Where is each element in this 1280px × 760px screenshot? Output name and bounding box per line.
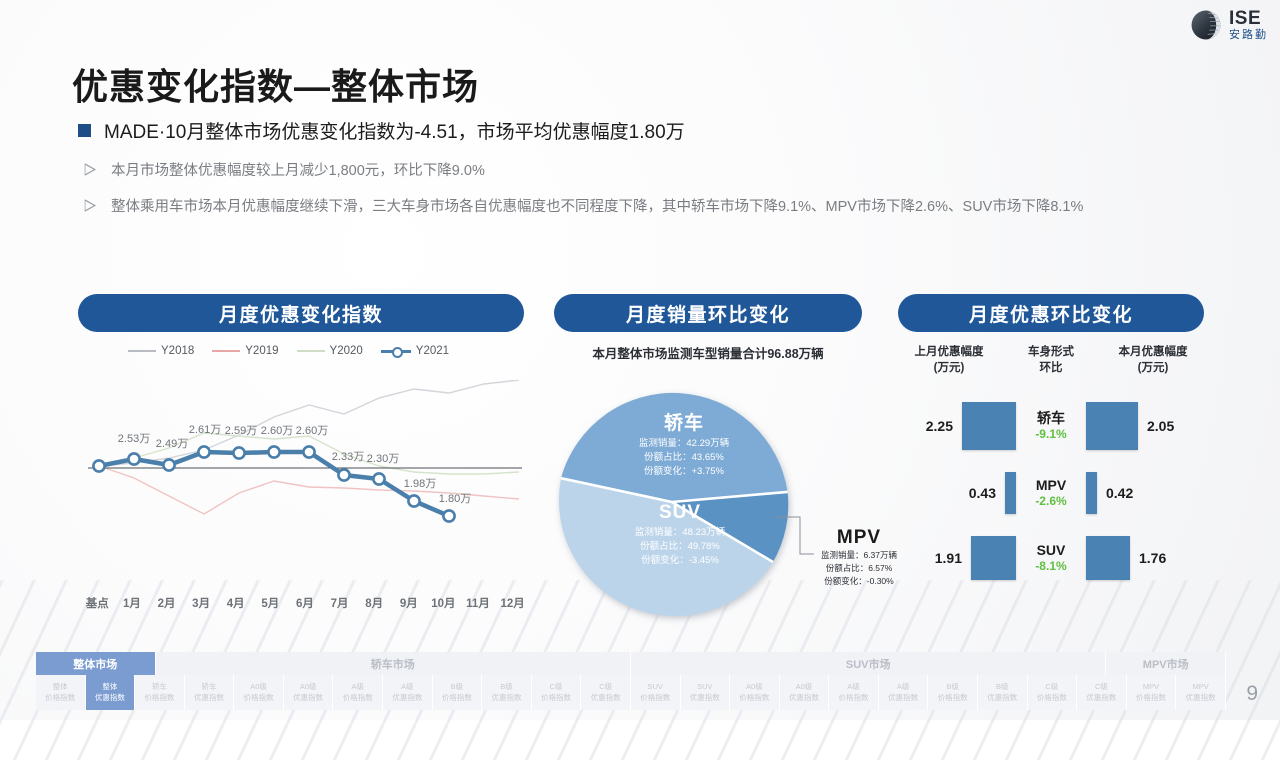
bar-row-mpv: 0.43 MPV -2.6% 0.42 <box>898 470 1204 516</box>
nav-tab-line1: B级 <box>451 682 464 692</box>
nav-tab-11[interactable]: C级优惠指数 <box>581 675 631 710</box>
nav-tab-9[interactable]: B级优惠指数 <box>482 675 532 710</box>
bar-col-cur-header: 本月优惠幅度 (万元) <box>1102 345 1204 376</box>
data-label: 2.53万 <box>118 433 150 445</box>
nav-tab-8[interactable]: B级价格指数 <box>433 675 483 710</box>
nav-group-sedan[interactable]: 轿车市场 <box>156 652 631 675</box>
legend-item-y2021: Y2021 <box>381 345 449 357</box>
nav-group-overall[interactable]: 整体市场 <box>36 652 156 675</box>
nav-tab-line2: 价格指数 <box>144 693 174 703</box>
bar-row-suv: 1.91 SUV -8.1% 1.76 <box>898 534 1204 582</box>
nav-tab-line2: 优惠指数 <box>293 693 323 703</box>
nav-tab-21[interactable]: C级优惠指数 <box>1077 675 1127 710</box>
panel-title-bar-chart: 月度优惠环比变化 <box>898 294 1204 332</box>
bar-right-suv: 1.76 <box>1086 536 1204 580</box>
nav-tab-7[interactable]: A级优惠指数 <box>383 675 433 710</box>
series-y2021-markers <box>93 446 454 521</box>
nav-tab-line1: C级 <box>599 682 612 692</box>
nav-tab-line1: C级 <box>550 682 563 692</box>
nav-tab-16[interactable]: A级价格指数 <box>829 675 879 710</box>
data-label: 2.60万 <box>261 425 293 437</box>
nav-tab-22[interactable]: MPV价格指数 <box>1127 675 1177 710</box>
nav-tab-line1: B级 <box>996 682 1009 692</box>
nav-tab-line2: 价格指数 <box>244 693 274 703</box>
nav-tab-line2: 优惠指数 <box>392 693 422 703</box>
bar-change-car: -9.1% <box>1016 427 1086 443</box>
nav-tab-12[interactable]: SUV价格指数 <box>631 675 681 710</box>
x-tick: 7月 <box>322 595 357 611</box>
nav-tab-23[interactable]: MPV优惠指数 <box>1176 675 1226 710</box>
bar-col-prev-line2: (万元) <box>898 361 1000 377</box>
bar-col-mid-line2: 环比 <box>1000 361 1102 377</box>
bar-left-mpv: 0.43 <box>898 472 1016 514</box>
bar-cur-value-mpv: 0.42 <box>1097 485 1146 501</box>
nav-tab-line2: 优惠指数 <box>491 693 521 703</box>
x-tick: 3月 <box>184 595 219 611</box>
bar-mid-car: 轿车 -9.1% <box>1016 410 1086 442</box>
slide-root: ISE 安路勤 优惠变化指数—整体市场 MADE·10月整体市场优惠变化指数为-… <box>0 0 1280 720</box>
nav-tab-1[interactable]: 整体优惠指数 <box>86 675 136 710</box>
nav-tab-line1: SUV <box>697 682 712 692</box>
nav-tab-line2: 优惠指数 <box>888 693 918 703</box>
legend-label: Y2020 <box>330 345 363 357</box>
x-tick: 2月 <box>149 595 184 611</box>
data-label: 2.30万 <box>367 453 399 465</box>
bar-mid-mpv: MPV -2.6% <box>1016 477 1086 509</box>
nav-tab-line1: A级 <box>352 682 365 692</box>
legend-label: Y2019 <box>245 345 278 357</box>
nav-group-mpv[interactable]: MPV市场 <box>1106 652 1226 675</box>
bar-label-suv: SUV <box>1016 542 1086 559</box>
x-tick: 6月 <box>288 595 323 611</box>
nav-tab-line2: 优惠指数 <box>1086 693 1116 703</box>
bar-cur-value-suv: 1.76 <box>1130 550 1179 566</box>
bar-col-cur-line2: (万元) <box>1102 361 1204 377</box>
bar-left-suv: 1.91 <box>898 536 1016 580</box>
nav-tab-line2: 价格指数 <box>640 693 670 703</box>
monthly-sales-pie-chart: 轿车 监测销量：42.29万辆 份额占比：43.65% 份额变化：+3.75% … <box>552 382 882 637</box>
nav-tab-line2: 价格指数 <box>343 693 373 703</box>
panel-title-line-chart: 月度优惠变化指数 <box>78 294 524 332</box>
nav-tab-line1: A0级 <box>250 682 267 692</box>
nav-tab-line2: 价格指数 <box>1136 693 1166 703</box>
x-tick: 11月 <box>461 595 496 611</box>
bar-prev-rect-mpv <box>1005 472 1016 514</box>
nav-group-suv[interactable]: SUV市场 <box>631 652 1106 675</box>
bar-change-suv: -8.1% <box>1016 559 1086 575</box>
nav-tab-line1: 轿车 <box>202 682 217 692</box>
nav-tab-line1: A级 <box>847 682 860 692</box>
nav-tab-19[interactable]: B级优惠指数 <box>978 675 1028 710</box>
legend-swatch <box>297 350 325 352</box>
line-chart-x-axis: 基点 1月 2月 3月 4月 5月 6月 7月 8月 9月 10月 11月 12… <box>80 595 530 611</box>
nav-tab-line2: 优惠指数 <box>987 693 1017 703</box>
nav-tab-line2: 价格指数 <box>442 693 472 703</box>
bar-col-mid-header: 车身形式 环比 <box>1000 345 1102 376</box>
sub-bullet-2: 整体乘用车市场本月优惠幅度继续下滑，三大车身市场各自优惠幅度也不同程度下降，其中… <box>84 196 1083 220</box>
nav-tab-line1: A0级 <box>796 682 813 692</box>
nav-tab-line1: 整体 <box>102 682 117 692</box>
data-label: 2.49万 <box>156 438 188 450</box>
x-tick: 9月 <box>391 595 426 611</box>
nav-tab-10[interactable]: C级价格指数 <box>532 675 582 710</box>
brand-logo: ISE 安路勤 <box>1189 8 1268 42</box>
pie-slices <box>559 393 788 616</box>
bar-prev-value-mpv: 0.43 <box>956 485 1005 501</box>
monthly-discount-index-line-chart: 2.53万 2.49万 2.61万 2.59万 2.60万 2.60万 2.33… <box>80 380 530 580</box>
legend-item-y2020: Y2020 <box>297 345 363 357</box>
data-label: 2.61万 <box>189 424 221 436</box>
x-tick: 10月 <box>426 595 461 611</box>
square-bullet-icon <box>78 124 91 137</box>
bar-cur-rect-mpv <box>1086 472 1097 514</box>
bar-chart-header: 上月优惠幅度 (万元) 车身形式 环比 本月优惠幅度 (万元) <box>898 345 1204 376</box>
nav-tab-line2: 优惠指数 <box>690 693 720 703</box>
bar-cur-rect-suv <box>1086 536 1130 580</box>
nav-tab-20[interactable]: C级价格指数 <box>1028 675 1078 710</box>
legend-swatch <box>128 350 156 352</box>
data-label: 1.98万 <box>404 478 436 490</box>
nav-tab-line1: 轿车 <box>152 682 167 692</box>
nav-tab-line2: 价格指数 <box>839 693 869 703</box>
x-tick: 4月 <box>218 595 253 611</box>
nav-tab-line1: A级 <box>401 682 414 692</box>
nav-tab-line1: A级 <box>897 682 910 692</box>
nav-tab-line2: 优惠指数 <box>194 693 224 703</box>
nav-tab-4[interactable]: A0级价格指数 <box>234 675 284 710</box>
bar-mid-suv: SUV -8.1% <box>1016 542 1086 574</box>
bar-row-car: 2.25 轿车 -9.1% 2.05 <box>898 400 1204 452</box>
bar-cur-value-car: 2.05 <box>1138 418 1187 434</box>
discount-change-bar-chart: 2.25 轿车 -9.1% 2.05 0.43 MPV -2.6% <box>898 400 1204 596</box>
nav-tab-line2: 价格指数 <box>1037 693 1067 703</box>
logo-cn: 安路勤 <box>1229 30 1268 41</box>
main-bullet: MADE·10月整体市场优惠变化指数为-4.51，市场平均优惠幅度1.80万 <box>78 117 685 144</box>
bar-col-mid-line1: 车身形式 <box>1000 345 1102 361</box>
legend-swatch <box>381 347 411 355</box>
bar-label-mpv: MPV <box>1016 477 1086 494</box>
legend-label: Y2021 <box>416 345 449 357</box>
nav-tab-line1: 整体 <box>53 682 68 692</box>
bottom-navigation[interactable]: 整体市场 轿车市场 SUV市场 MPV市场 整体价格指数 整体优惠指数 轿车价格… <box>36 652 1226 710</box>
bar-right-mpv: 0.42 <box>1086 472 1204 514</box>
bar-col-cur-line1: 本月优惠幅度 <box>1102 345 1204 361</box>
series-y2019-line <box>99 466 519 514</box>
bar-prev-value-car: 2.25 <box>913 418 962 434</box>
bar-change-mpv: -2.6% <box>1016 494 1086 510</box>
nav-group-row[interactable]: 整体市场 轿车市场 SUV市场 MPV市场 <box>36 652 1226 675</box>
nav-tab-line1: A0级 <box>300 682 317 692</box>
data-label: 2.60万 <box>296 425 328 437</box>
sub-bullet-1-text: 本月市场整体优惠幅度较上月减少1,800元，环比下降9.0% <box>111 160 485 184</box>
nav-tab-line2: 价格指数 <box>541 693 571 703</box>
x-tick: 5月 <box>253 595 288 611</box>
line-chart-legend: Y2018 Y2019 Y2020 Y2021 <box>128 345 449 357</box>
page-number: 9 <box>1246 682 1258 706</box>
sub-bullet-2-text: 整体乘用车市场本月优惠幅度继续下滑，三大车身市场各自优惠幅度也不同程度下降，其中… <box>111 196 1083 220</box>
legend-swatch <box>212 350 240 352</box>
arrow-bullet-icon <box>84 163 97 176</box>
bar-right-car: 2.05 <box>1086 402 1204 450</box>
data-label: 2.33万 <box>332 451 364 463</box>
nav-tab-line1: SUV <box>648 682 663 692</box>
x-tick: 12月 <box>495 595 530 611</box>
sub-bullet-1: 本月市场整体优惠幅度较上月减少1,800元，环比下降9.0% <box>84 160 485 184</box>
bar-prev-value-suv: 1.91 <box>922 550 971 566</box>
nav-tab-line2: 优惠指数 <box>1186 693 1216 703</box>
nav-tab-line1: MPV <box>1143 682 1159 692</box>
bar-prev-rect-car <box>962 402 1016 450</box>
nav-tab-line1: C级 <box>1095 682 1108 692</box>
legend-item-y2018: Y2018 <box>128 345 194 357</box>
bar-cur-rect-car <box>1086 402 1138 450</box>
x-tick: 8月 <box>357 595 392 611</box>
x-tick: 基点 <box>80 595 115 611</box>
page-title: 优惠变化指数—整体市场 <box>72 58 479 110</box>
arrow-bullet-icon <box>84 199 97 212</box>
nav-tab-line1: MPV <box>1192 682 1208 692</box>
nav-tab-2[interactable]: 轿车价格指数 <box>135 675 185 710</box>
nav-tab-line2: 价格指数 <box>938 693 968 703</box>
nav-tab-row[interactable]: 整体价格指数 整体优惠指数 轿车价格指数 轿车优惠指数 A0级价格指数 A0级优… <box>36 675 1226 710</box>
nav-tab-line2: 价格指数 <box>45 693 75 703</box>
bar-label-car: 轿车 <box>1016 410 1086 427</box>
main-bullet-text: MADE·10月整体市场优惠变化指数为-4.51，市场平均优惠幅度1.80万 <box>104 117 685 144</box>
nav-tab-18[interactable]: B级价格指数 <box>928 675 978 710</box>
nav-tab-line2: 价格指数 <box>739 693 769 703</box>
nav-tab-line1: C级 <box>1045 682 1058 692</box>
nav-tab-5[interactable]: A0级优惠指数 <box>284 675 334 710</box>
globe-icon <box>1189 8 1223 42</box>
data-label: 2.59万 <box>225 425 257 437</box>
nav-tab-line1: B级 <box>500 682 513 692</box>
bar-col-prev-line1: 上月优惠幅度 <box>898 345 1000 361</box>
bar-left-car: 2.25 <box>898 402 1016 450</box>
bar-col-prev-header: 上月优惠幅度 (万元) <box>898 345 1000 376</box>
nav-tab-3[interactable]: 轿车优惠指数 <box>185 675 235 710</box>
nav-tab-line2: 优惠指数 <box>789 693 819 703</box>
nav-tab-13[interactable]: SUV优惠指数 <box>681 675 731 710</box>
logo-text: ISE 安路勤 <box>1229 9 1268 41</box>
nav-tab-line1: A0级 <box>746 682 763 692</box>
nav-tab-line2: 优惠指数 <box>591 693 621 703</box>
panel-title-pie-chart: 月度销量环比变化 <box>554 294 862 332</box>
nav-tab-line2: 优惠指数 <box>95 693 125 703</box>
nav-tab-17[interactable]: A级优惠指数 <box>879 675 929 710</box>
nav-tab-line1: B级 <box>946 682 959 692</box>
nav-tab-15[interactable]: A0级优惠指数 <box>780 675 830 710</box>
nav-tab-0[interactable]: 整体价格指数 <box>36 675 86 710</box>
legend-label: Y2018 <box>161 345 194 357</box>
nav-tab-14[interactable]: A0级价格指数 <box>730 675 780 710</box>
logo-en: ISE <box>1229 9 1268 28</box>
pie-chart-caption: 本月整体市场监测车型销量合计96.88万辆 <box>554 343 862 362</box>
legend-item-y2019: Y2019 <box>212 345 278 357</box>
bar-prev-rect-suv <box>971 536 1016 580</box>
data-label: 1.80万 <box>439 493 471 505</box>
nav-tab-6[interactable]: A级价格指数 <box>333 675 383 710</box>
x-tick: 1月 <box>115 595 150 611</box>
pie-svg <box>552 382 882 637</box>
